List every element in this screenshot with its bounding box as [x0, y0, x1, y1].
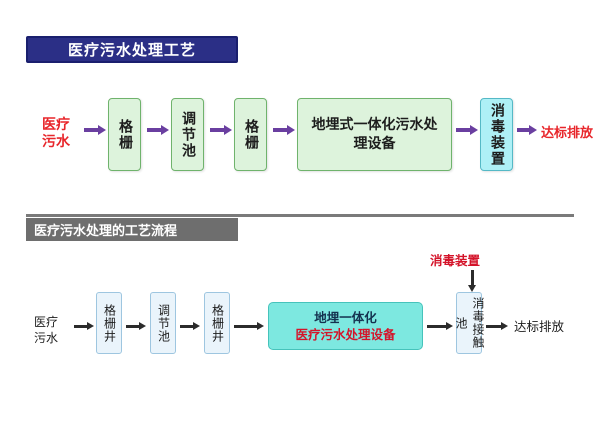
flow2-arrow-4	[234, 322, 264, 330]
flow1-arrow-1	[84, 125, 106, 135]
flow2-arrow-3	[180, 322, 200, 330]
flow1-node-2[interactable]: 调节池	[171, 98, 204, 171]
flow2-end-label: 达标排放	[514, 316, 564, 335]
flow2-node-4-line1: 地埋一体化	[314, 309, 377, 326]
flow2-node-4-line2: 医疗污水处理设备	[295, 326, 395, 343]
flow2-start-label: 医疗 污水	[22, 314, 70, 346]
flow1-arrow-5	[456, 125, 478, 135]
flow2-callout-arrow	[468, 270, 476, 292]
flow2-node-1[interactable]: 格栅井	[96, 292, 122, 354]
flow1-arrow-3	[210, 125, 232, 135]
flow2-node-5[interactable]: 消毒接触池	[456, 292, 482, 354]
flow1-arrow-6	[517, 125, 537, 135]
process-flow-diagram-2: 医疗 污水 格栅井 调节池 格栅井 地埋一体化 医疗污水处理设备 消毒装置 消毒…	[0, 250, 600, 410]
flow2-arrow-1	[74, 322, 94, 330]
flow2-node-4[interactable]: 地埋一体化 医疗污水处理设备	[268, 302, 423, 350]
flow1-node-5[interactable]: 消毒装置	[480, 98, 513, 171]
flow2-node-2[interactable]: 调节池	[150, 292, 176, 354]
flow1-node-1[interactable]: 格栅	[108, 98, 141, 171]
flow1-start-label: 医疗 污水	[30, 117, 82, 151]
flow1-arrow-2	[147, 125, 169, 135]
flow2-start-label-line1: 医疗	[22, 314, 70, 330]
section-2-divider	[26, 214, 574, 217]
flow2-arrow-6	[486, 322, 508, 330]
flow2-start-label-line2: 污水	[22, 330, 70, 346]
process-flow-diagram-1: 医疗 污水 格栅 调节池 格栅 地埋式一体化污水处理设备 消毒装置 达标排放	[0, 85, 600, 195]
flow2-node-3[interactable]: 格栅井	[204, 292, 230, 354]
flow1-node-4[interactable]: 地埋式一体化污水处理设备	[297, 98, 452, 171]
section-2-title: 医疗污水处理的工艺流程	[26, 218, 238, 241]
flow2-arrow-2	[126, 322, 146, 330]
flow1-node-3[interactable]: 格栅	[234, 98, 267, 171]
flow1-start-label-line1: 医疗	[30, 117, 82, 134]
flow1-arrow-4	[273, 125, 295, 135]
flow1-end-label: 达标排放	[537, 125, 597, 142]
flow2-arrow-5	[427, 322, 453, 330]
flow2-callout-label: 消毒装置	[430, 250, 480, 269]
flow1-start-label-line2: 污水	[30, 134, 82, 151]
section-1-title: 医疗污水处理工艺	[26, 36, 238, 63]
